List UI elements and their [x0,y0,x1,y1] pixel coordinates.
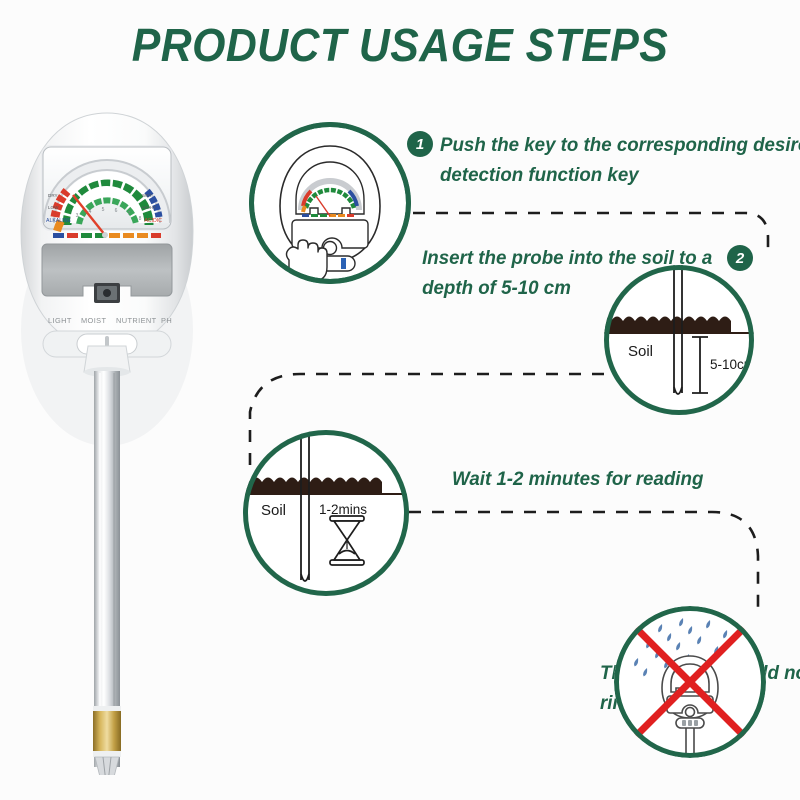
step-1-badge: 1 [407,131,433,157]
step-1-line-2: detection function key [440,160,800,190]
infographic-page: PRODUCT USAGE STEPS [0,0,800,800]
step-4-illustration [614,606,766,758]
connector-3-4 [409,512,758,610]
step-1-illustration [249,122,411,284]
step-1-line-1: Push the key to the corresponding desire… [440,130,800,160]
step-3-duration-label: 1-2mins [319,502,367,517]
step-3-line-1: Wait 1-2 minutes for reading [452,464,703,494]
step-3-text: Wait 1-2 minutes for reading [452,464,703,494]
step-2-illustration: Soil 5-10cm [604,265,754,415]
step-2-depth-label: 5-10cm [710,357,754,372]
step-3-soil-label: Soil [261,502,286,519]
step-2-soil-label: Soil [628,343,653,360]
step-1-text: Push the key to the corresponding desire… [440,130,800,190]
step-3-illustration: Soil 1-2mins [243,430,409,596]
step-2-badge: 2 [727,245,753,271]
